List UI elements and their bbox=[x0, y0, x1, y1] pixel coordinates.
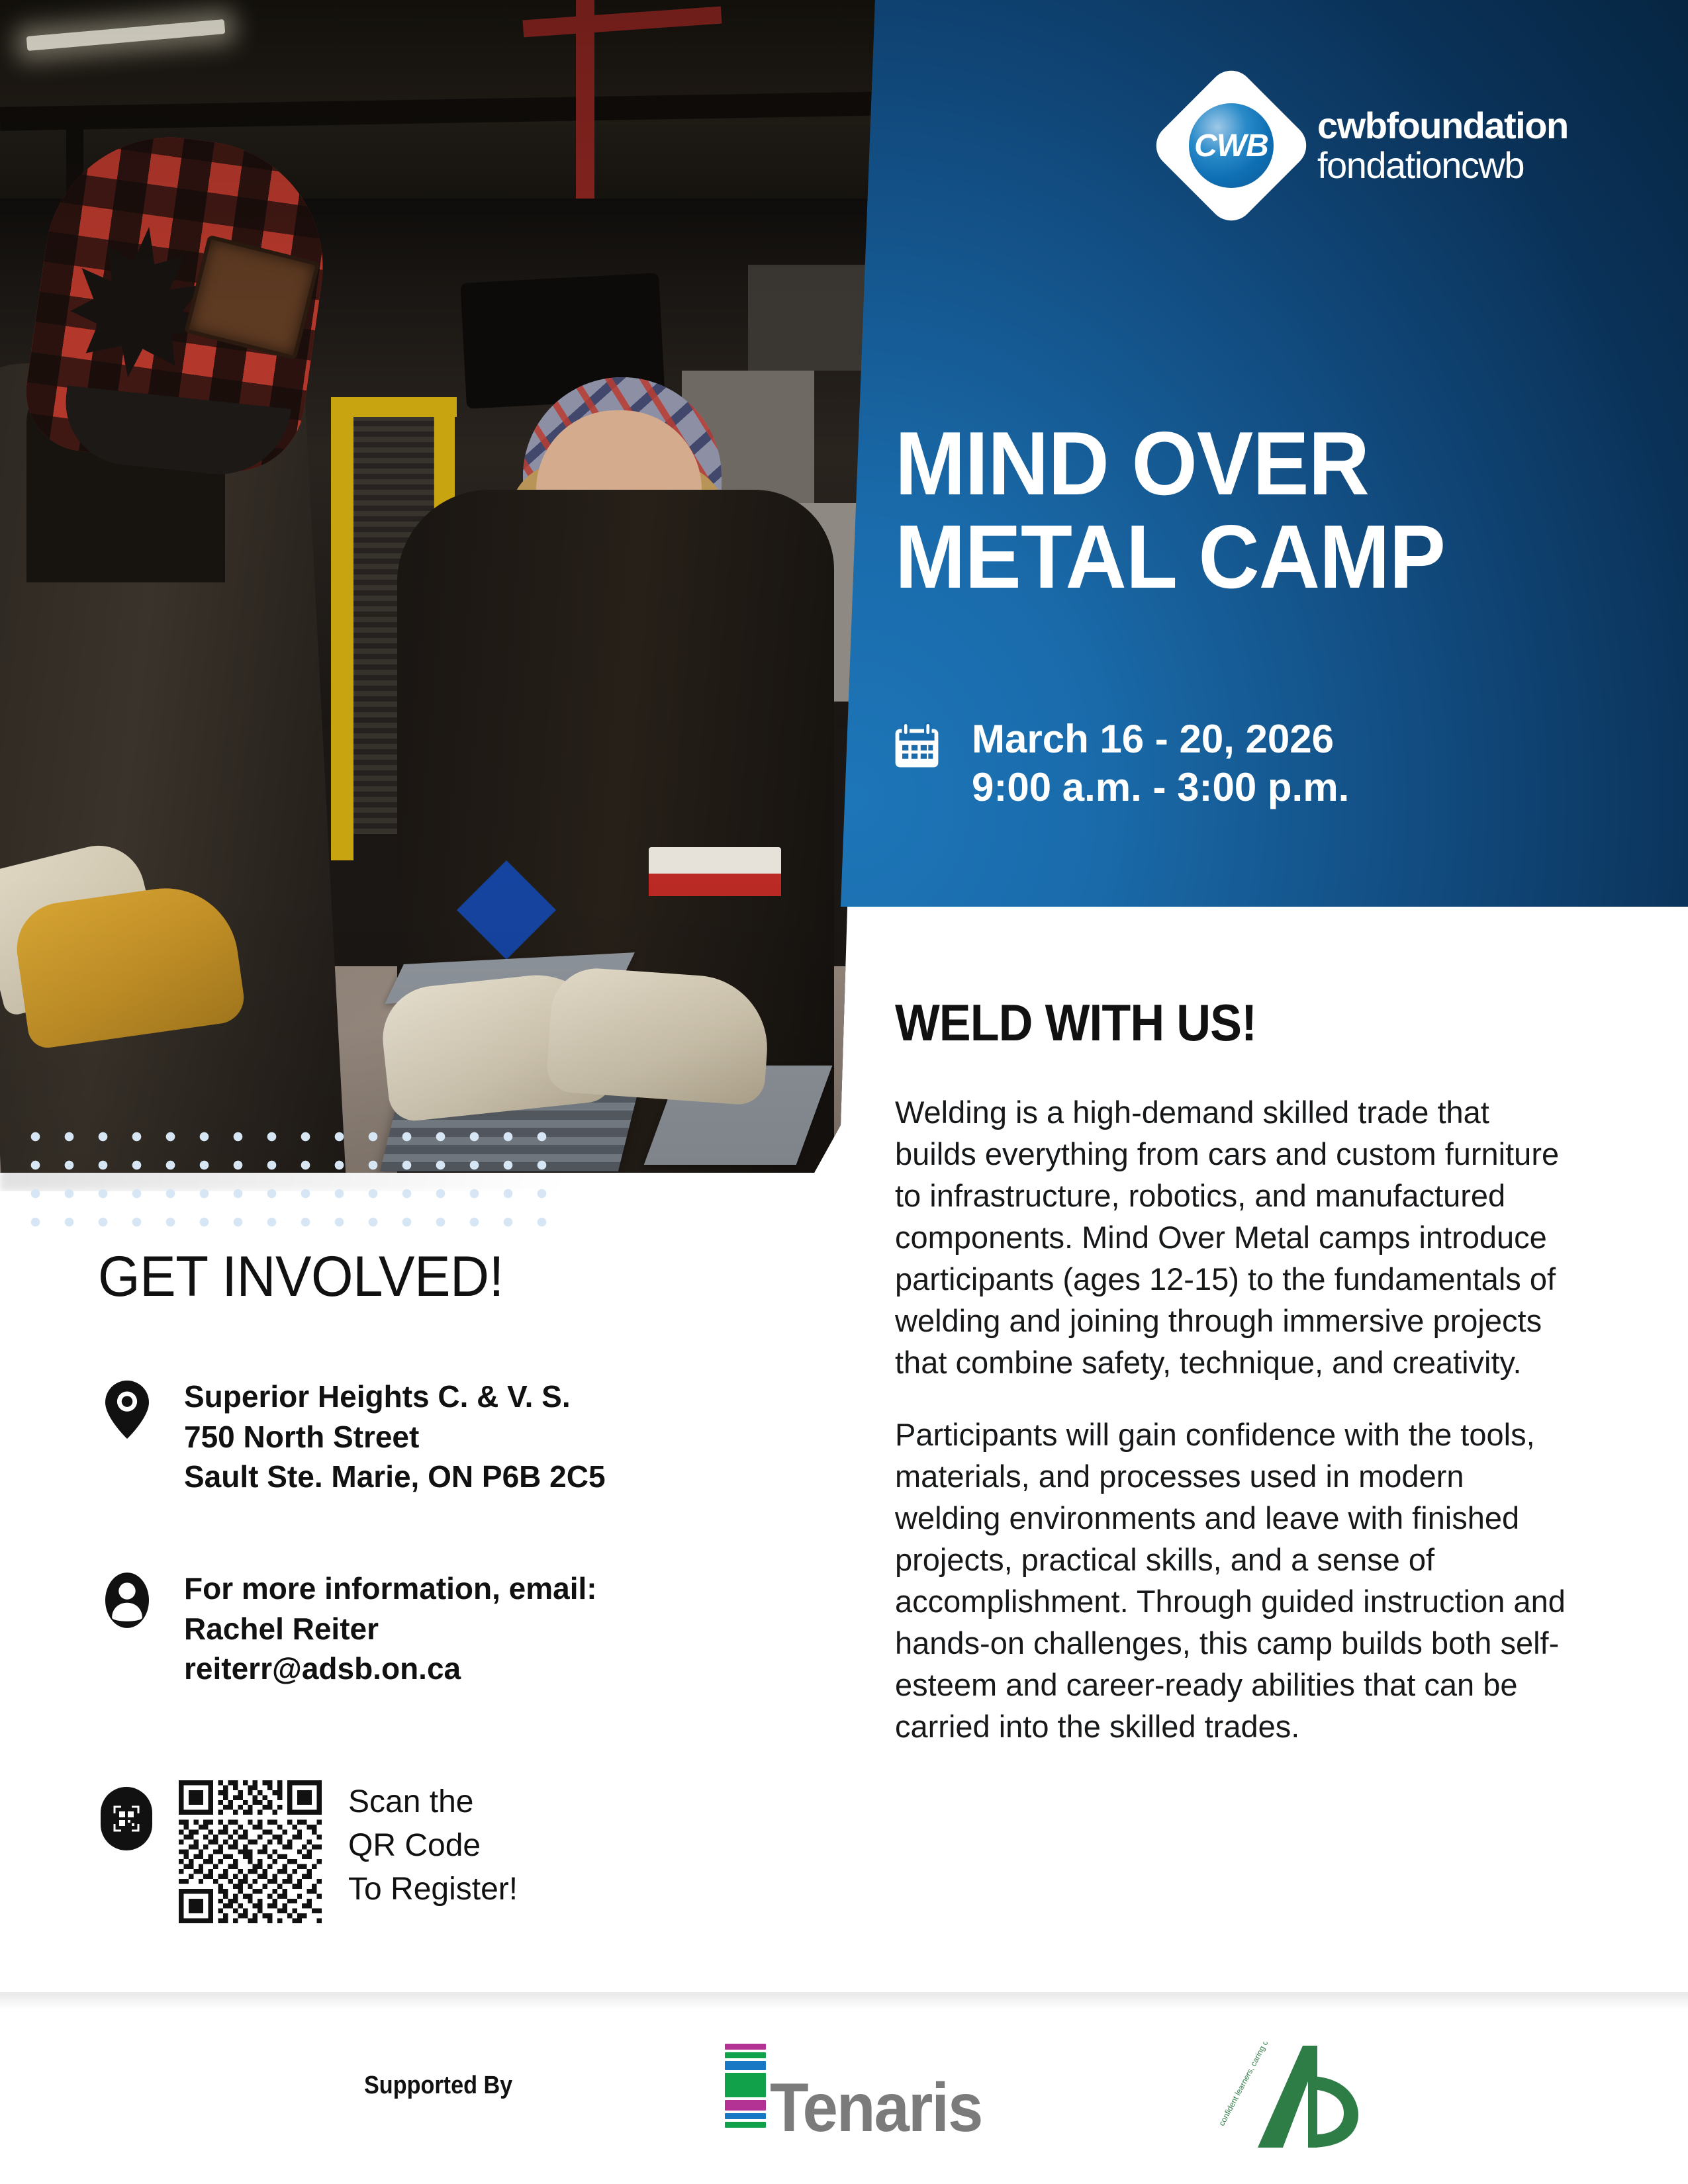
page-title-line2: METAL CAMP bbox=[895, 510, 1592, 604]
qr-line-1: Scan the bbox=[348, 1780, 518, 1824]
cwb-wordmark-line2: fondationcwb bbox=[1317, 146, 1568, 185]
workshop-photo-canvas bbox=[0, 0, 887, 1185]
page-title: MIND OVER METAL CAMP bbox=[895, 417, 1636, 604]
location-row: Superior Heights C. & V. S. 750 North St… bbox=[99, 1377, 606, 1497]
weld-paragraph-1: Welding is a high-demand skilled trade t… bbox=[895, 1092, 1577, 1384]
tenaris-wordmark: Tenaris bbox=[770, 2077, 982, 2140]
get-involved-heading: GET INVOLVED! bbox=[98, 1244, 504, 1310]
cwb-wordmark-line1: cwbfoundation bbox=[1317, 106, 1568, 146]
cwb-diamond-icon: CWB bbox=[1147, 62, 1316, 230]
map-pin-icon bbox=[99, 1377, 155, 1439]
weld-paragraph-2: Participants will gain confidence with t… bbox=[895, 1414, 1577, 1748]
weld-with-us-body: Welding is a high-demand skilled trade t… bbox=[895, 1092, 1577, 1778]
qr-line-3: To Register! bbox=[348, 1868, 518, 1911]
cwb-ellipse: CWB bbox=[1189, 103, 1274, 188]
person-icon bbox=[99, 1569, 155, 1628]
event-date-block: March 16 - 20, 2026 9:00 a.m. - 3:00 p.m… bbox=[892, 715, 1349, 811]
supported-by-label: Supported By bbox=[364, 2071, 512, 2100]
contact-email[interactable]: reiterr@adsb.on.ca bbox=[184, 1649, 597, 1689]
cwb-foundation-logo: CWB cwbfoundation fondationcwb bbox=[1172, 86, 1568, 205]
photo-lincoln-electric-patch bbox=[649, 847, 781, 896]
photo-yellow-guard bbox=[331, 397, 353, 860]
calendar-icon bbox=[892, 721, 941, 770]
page-title-line1: MIND OVER bbox=[895, 417, 1592, 510]
location-line-2: 750 North Street bbox=[184, 1417, 606, 1457]
location-line-3: Sault Ste. Marie, ON P6B 2C5 bbox=[184, 1457, 606, 1497]
qr-instructions: Scan the QR Code To Register! bbox=[348, 1780, 518, 1912]
contact-row: For more information, email: Rachel Reit… bbox=[99, 1569, 597, 1689]
event-time: 9:00 a.m. - 3:00 p.m. bbox=[972, 763, 1349, 811]
footer-divider bbox=[0, 1992, 1688, 2009]
location-lines: Superior Heights C. & V. S. 750 North St… bbox=[184, 1377, 606, 1497]
adsb-tagline: confident learners, caring citizens bbox=[1218, 2042, 1280, 2127]
cwb-monogram: CWB bbox=[1194, 128, 1268, 164]
weld-with-us-heading: WELD WITH US! bbox=[895, 993, 1256, 1053]
tenaris-bars-icon bbox=[725, 2044, 766, 2140]
location-line-1: Superior Heights C. & V. S. bbox=[184, 1377, 606, 1417]
qr-line-2: QR Code bbox=[348, 1824, 518, 1868]
tenaris-logo: Tenaris bbox=[725, 2044, 982, 2140]
hero-photo bbox=[0, 0, 887, 1185]
qr-scan-icon bbox=[101, 1787, 152, 1850]
decorative-dot-grid bbox=[15, 1118, 557, 1244]
contact-line-2: Rachel Reiter bbox=[184, 1609, 597, 1649]
contact-line-1: For more information, email: bbox=[184, 1569, 597, 1609]
contact-lines: For more information, email: Rachel Reit… bbox=[184, 1569, 597, 1689]
event-date: March 16 - 20, 2026 bbox=[972, 715, 1349, 763]
adsb-logo: confident learners, caring citizens bbox=[1218, 2042, 1370, 2167]
qr-row: Scan the QR Code To Register! bbox=[101, 1780, 518, 1923]
event-date-lines: March 16 - 20, 2026 9:00 a.m. - 3:00 p.m… bbox=[972, 715, 1349, 811]
qr-code-image[interactable] bbox=[179, 1780, 322, 1923]
cwb-wordmark: cwbfoundation fondationcwb bbox=[1317, 106, 1568, 186]
